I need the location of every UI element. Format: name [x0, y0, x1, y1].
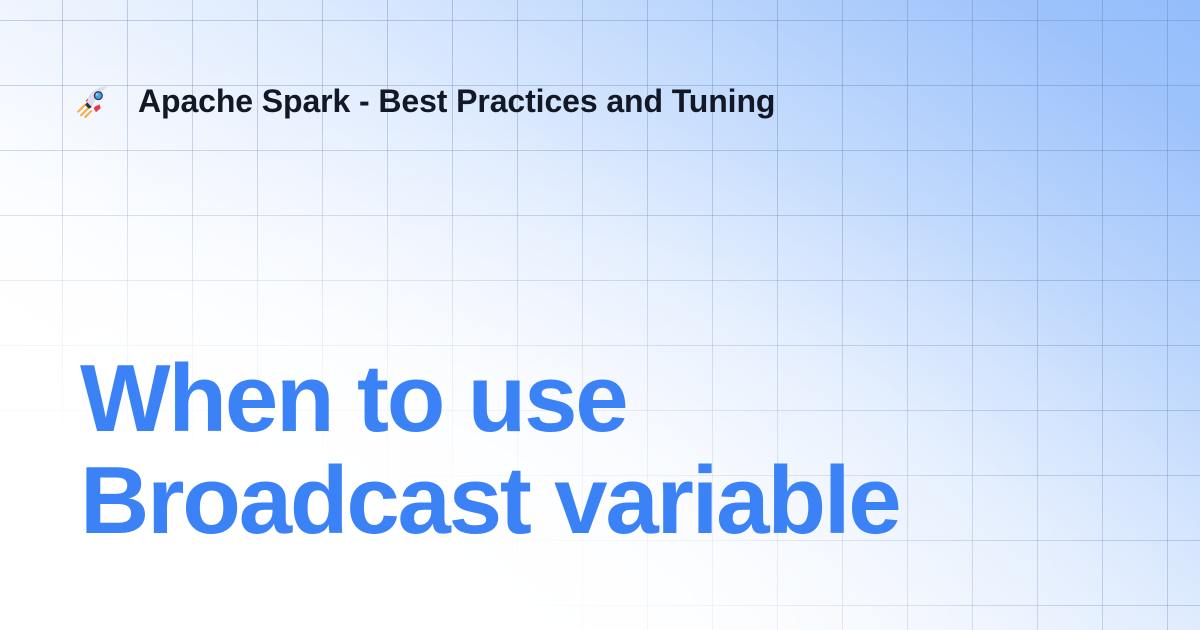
card-content: Apache Spark - Best Practices and Tuning… [0, 0, 1200, 630]
social-preview-card: Apache Spark - Best Practices and Tuning… [0, 0, 1200, 630]
site-title: Apache Spark - Best Practices and Tuning [138, 85, 775, 117]
page-title: When to use Broadcast variable [80, 348, 1050, 552]
site-header: Apache Spark - Best Practices and Tuning [74, 78, 775, 124]
rocket-icon [74, 82, 112, 120]
